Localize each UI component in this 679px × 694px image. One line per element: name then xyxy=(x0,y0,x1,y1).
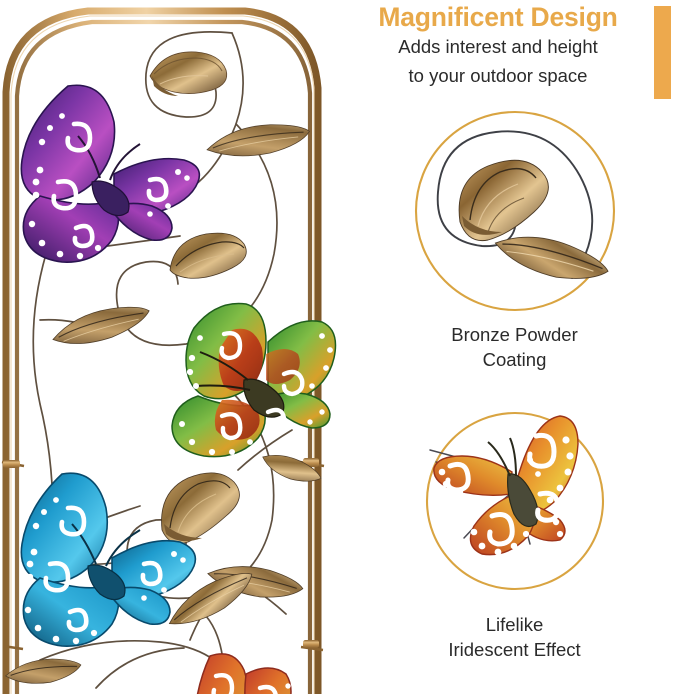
headline-block: Magnificent Design Adds interest and hei… xyxy=(350,0,679,108)
purple-butterfly xyxy=(21,85,199,262)
product-feature-image: Magnificent Design Adds interest and hei… xyxy=(0,0,679,694)
feature-caption-1-line-2: Coating xyxy=(350,347,679,372)
feature-bronze-powder-coating: Bronze Powder Coating xyxy=(350,108,679,372)
feature-lifelike-iridescent-effect: Lifelike Iridescent Effect xyxy=(350,398,679,662)
feature-caption-2: Lifelike Iridescent Effect xyxy=(350,612,679,662)
headline-subtitle-line-2: to your outdoor space xyxy=(350,65,646,87)
feature-caption-1-line-1: Bronze Powder xyxy=(350,322,679,347)
bronze-leaf-left-mid xyxy=(49,301,153,350)
feature-panel: Magnificent Design Adds interest and hei… xyxy=(350,0,679,694)
red-butterfly-partial xyxy=(194,654,291,694)
headline-subtitle-line-1: Adds interest and height xyxy=(350,36,646,58)
feature-caption-2-line-2: Iridescent Effect xyxy=(350,637,679,662)
bronze-leaf-curled-mid xyxy=(170,233,246,278)
feature-caption-2-line-1: Lifelike xyxy=(350,612,679,637)
bronze-leaf-curled-lower xyxy=(162,473,240,544)
orange-accent-bar xyxy=(654,6,671,99)
page-title: Magnificent Design xyxy=(350,2,646,33)
butterfly-garden-trellis-photo xyxy=(0,0,350,694)
feature-caption-1: Bronze Powder Coating xyxy=(350,322,679,372)
bronze-leaf-scroll-detail-circle xyxy=(412,108,618,314)
orange-yellow-butterfly-detail-circle xyxy=(412,398,618,604)
